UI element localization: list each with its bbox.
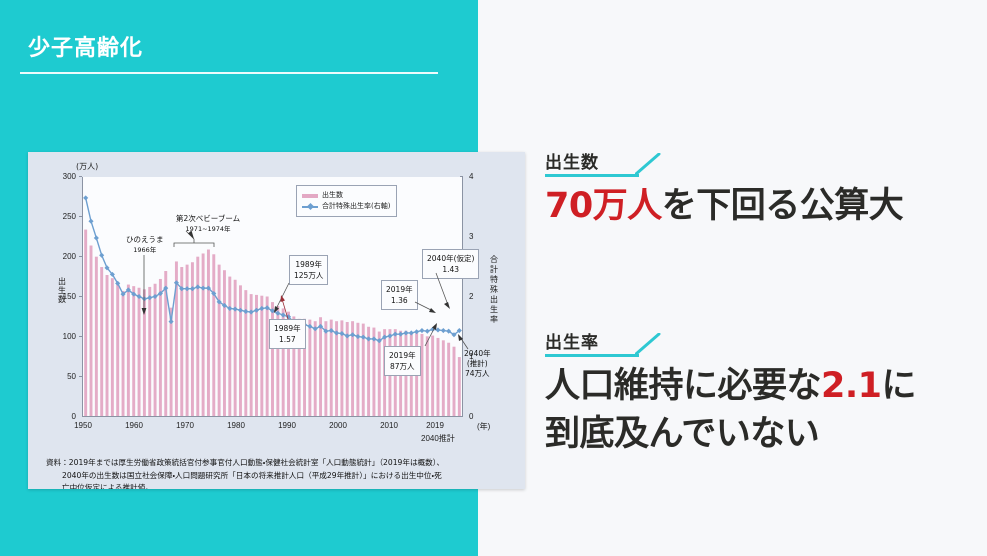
annotation-rate-2040-line2: 1.43 [427,264,474,275]
right-content-column: 出生数 70万人を下回る公算大 出生率 人口維持に必要な2.1に 到底及んでいな… [545,0,987,556]
annotation-births-2040-line1: 2040年 [464,349,491,359]
annotation-rate-1989: 1989年 1.57 [269,319,306,349]
callout-rate-kicker: 出生率 [545,328,599,353]
y-tick-150: 150 [50,292,76,301]
legend-item-fertility-rate: 合計特殊出生率(右軸) [302,201,390,212]
y2-tick-2: 2 [469,292,487,301]
annotation-births-2019-line2: 87万人 [389,361,416,372]
y2-tick-4: 4 [469,172,487,181]
annotation-hinoeuma-line2: 1966年 [126,245,164,255]
legend-label-fertility-rate: 合計特殊出生率(右軸) [322,201,390,212]
chart-legend: 出生数 合計特殊出生率(右軸) [296,185,397,217]
callout-rate-headline-line2: 到底及んでいない [545,410,987,458]
annotation-births-1989: 1989年 125万人 [289,255,328,285]
annotation-births-2019-line1: 2019年 [389,350,416,361]
x-tick-1980: 1980 [216,421,256,430]
annotation-rate-2040: 2040年(仮定) 1.43 [422,249,479,279]
page-title: 少子高齢化 [28,30,143,62]
y2-tick-0: 0 [469,412,487,421]
annotation-births-2040: 2040年 (推計) 74万人 [464,349,491,379]
x-tick-2040-estimate: 2040推計 [421,433,455,444]
y-tick-50: 50 [50,372,76,381]
callout-rate-highlight: 2.1 [821,366,882,406]
callout-births-underline [545,174,639,177]
chart-figure: (万人) 出生数 合計特殊出生率 300 250 200 150 100 50 … [36,159,517,445]
rising-line-icon-2 [635,333,661,355]
y2-axis-title: 合計特殊出生率 [488,255,500,325]
x-tick-1960: 1960 [114,421,154,430]
legend-bar-swatch-icon [302,194,318,198]
callout-births-highlight: 70万人 [545,186,662,226]
annotation-hinoeuma: ひのえうま 1966年 [126,235,164,255]
callout-births-rest: を下回る公算大 [662,186,904,226]
y-tick-300: 300 [50,172,76,181]
callout-rate-underline [545,354,639,357]
annotation-births-2040-line2: (推計) [464,359,491,369]
rising-line-icon [635,153,661,175]
x-tick-2019: 2019 [415,421,455,430]
title-underline-rule [20,72,438,74]
annotation-births-1989-line2: 125万人 [294,270,323,281]
x-tick-1970: 1970 [165,421,205,430]
annotation-rate-2019-line1: 2019年 [386,284,413,295]
annotation-second-baby-boom-line2: 1971~1974年 [176,224,240,234]
callout-births: 出生数 70万人を下回る公算大 [545,148,987,230]
annotation-rate-2019-line2: 1.36 [386,295,413,306]
annotation-births-2040-line3: 74万人 [464,369,491,379]
legend-line-swatch-icon [302,206,318,208]
y-tick-250: 250 [50,212,76,221]
x-tick-1950: 1950 [63,421,103,430]
callout-rate-headline-line1: 人口維持に必要な2.1に [545,362,987,410]
footnote-line1: 資料：2019年までは厚生労働省政策統括官付参事官付人口動態・保健社会統計室「人… [46,458,444,467]
annotation-rate-1989-line2: 1.57 [274,334,301,345]
y-axis-unit-label: (万人) [76,161,98,172]
callout-rate-line1-post: に [882,366,917,406]
annotation-births-1989-line1: 1989年 [294,259,323,270]
annotation-rate-2040-line1: 2040年(仮定) [427,253,474,264]
annotation-second-baby-boom-line1: 第2次ベビーブーム [176,214,240,224]
callout-births-headline: 70万人を下回る公算大 [545,182,987,230]
x-tick-2010: 2010 [369,421,409,430]
legend-item-births: 出生数 [302,190,390,201]
callout-births-kicker: 出生数 [545,148,599,173]
y-tick-200: 200 [50,252,76,261]
legend-label-births: 出生数 [322,190,343,201]
annotation-hinoeuma-line1: ひのえうま [126,235,164,245]
callout-rate-kicker-wrap: 出生率 [545,328,987,362]
footnote-line2: 2040年の出生数は国立社会保障・人口問題研究所「日本の将来推計人口（平成29年… [46,470,516,483]
annotation-rate-1989-line1: 1989年 [274,323,301,334]
x-axis-unit-label: (年) [477,421,490,432]
annotation-births-2019: 2019年 87万人 [384,346,421,376]
chart-footnote: 資料：2019年までは厚生労働省政策統括官付参事官付人口動態・保健社会統計室「人… [46,457,516,489]
chart-card: (万人) 出生数 合計特殊出生率 300 250 200 150 100 50 … [28,152,525,489]
right-axis-line [462,177,463,417]
y-tick-100: 100 [50,332,76,341]
callout-rate: 出生率 人口維持に必要な2.1に 到底及んでいない [545,328,987,458]
annotation-rate-2019: 2019年 1.36 [381,280,418,310]
callout-rate-line1-pre: 人口維持に必要な [545,366,821,406]
y2-tick-3: 3 [469,232,487,241]
callout-births-kicker-wrap: 出生数 [545,148,987,182]
y-tick-0: 0 [50,412,76,421]
annotation-second-baby-boom: 第2次ベビーブーム 1971~1974年 [176,214,240,234]
x-tick-2000: 2000 [318,421,358,430]
footnote-line3: 亡中位仮定による推計値。 [46,482,516,489]
x-tick-1990: 1990 [267,421,307,430]
